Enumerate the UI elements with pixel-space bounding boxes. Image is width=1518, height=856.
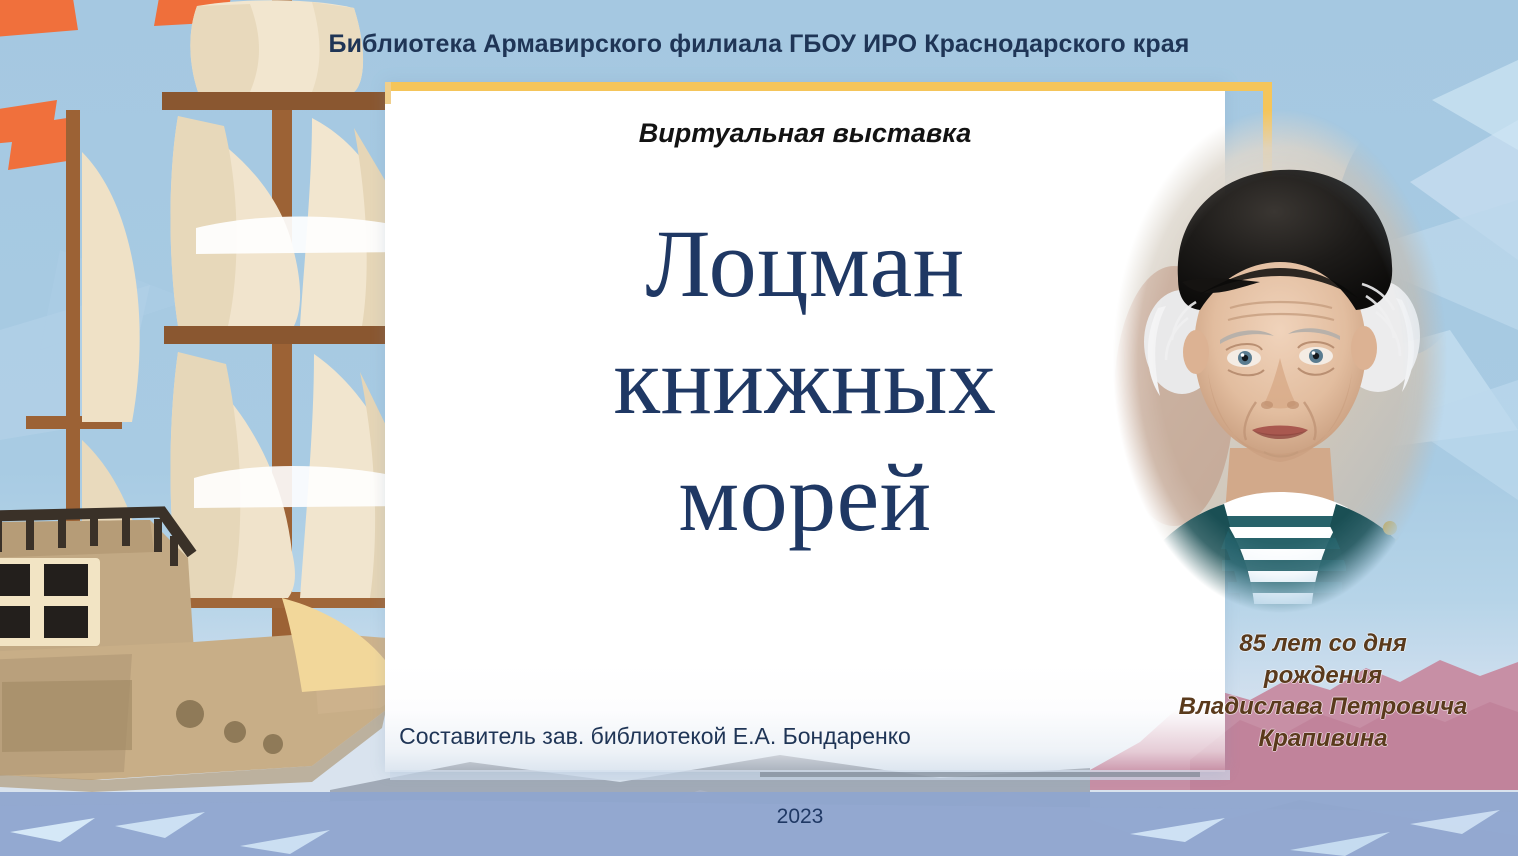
page-title: Лоцман книжных морей: [445, 205, 1165, 556]
anniversary-line-2: рождения: [1128, 660, 1518, 692]
presentation-slide: Библиотека Армавирского филиала ГБОУ ИРО…: [0, 0, 1518, 856]
page-title-line-1: Лоцман: [445, 205, 1165, 322]
anniversary-line-4: Крапивина: [1128, 723, 1518, 755]
compiler-credit: Составитель зав. библиотекой Е.А. Бондар…: [335, 723, 975, 750]
anniversary-caption: 85 лет со дня рождения Владислава Петров…: [1128, 628, 1518, 755]
page-title-line-3: морей: [445, 439, 1165, 556]
anniversary-line-3: Владислава Петровича: [1128, 691, 1518, 723]
card-border-left: [385, 82, 391, 104]
portrait-vladislav-krapivin: [1104, 96, 1456, 626]
card-border-top: [385, 82, 1272, 91]
organization-title: Библиотека Армавирского филиала ГБОУ ИРО…: [0, 30, 1518, 59]
year-label: 2023: [700, 805, 900, 829]
exhibition-subtitle: Виртуальная выставка: [455, 118, 1155, 149]
page-title-line-2: книжных: [445, 322, 1165, 439]
anniversary-line-1: 85 лет со дня: [1128, 628, 1518, 660]
